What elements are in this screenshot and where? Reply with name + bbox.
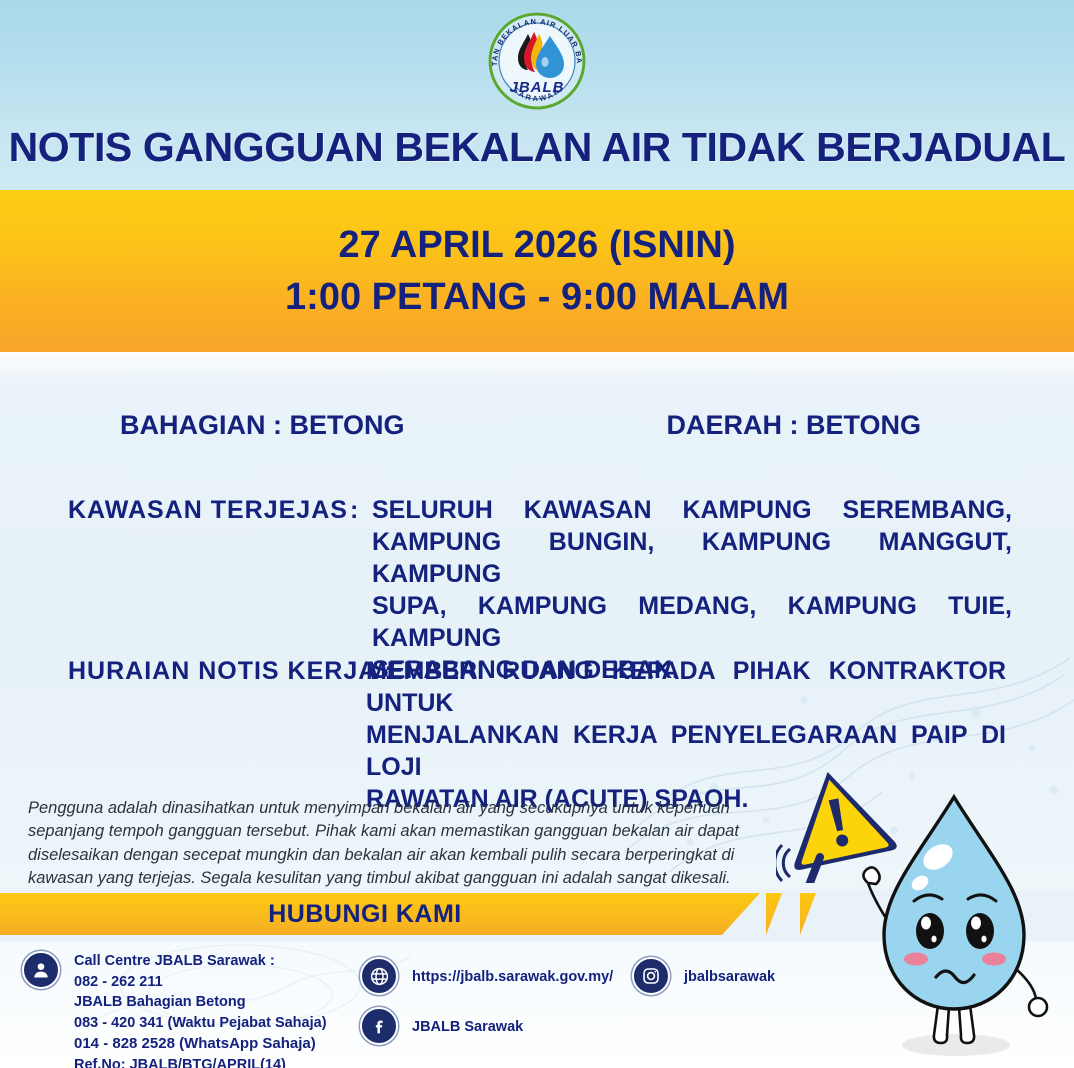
call-centre-line: JBALB Bahagian Betong	[74, 992, 327, 1013]
person-icon	[22, 951, 60, 989]
instagram-icon	[632, 957, 670, 995]
globe-icon	[360, 957, 398, 995]
whatsapp-line: 014 - 828 2528 (WhatsApp Sahaja)	[74, 1033, 327, 1054]
date-time-band: 27 APRIL 2026 (ISNIN) 1:00 PETANG - 9:00…	[0, 190, 1074, 352]
poster-header: JABATAN BEKALAN AIR LUAR BANDAR SARAWAK …	[0, 0, 1074, 190]
website-text: https://jbalb.sarawak.gov.my/	[412, 967, 613, 988]
bahagian-label: BAHAGIAN : BETONG	[120, 410, 405, 441]
water-droplet-mascot	[838, 783, 1068, 1068]
affected-areas-label: KAWASAN TERJEJAS	[68, 494, 350, 526]
reference-number: Ref.No: JBALB/BTG/APRIL(14)	[74, 1055, 327, 1068]
contact-bar: HUBUNGI KAMI	[0, 893, 760, 935]
disclaimer-text: Pengguna adalah dinasihatkan untuk menyi…	[28, 797, 773, 890]
affected-areas-line: SELURUH KAWASAN KAMPUNG SEREMBANG,	[372, 494, 1012, 526]
affected-areas-colon: :	[350, 494, 372, 526]
instagram-text: jbalbsarawak	[684, 967, 775, 988]
facebook-icon	[360, 1007, 398, 1045]
instagram-block[interactable]: jbalbsarawak	[632, 957, 775, 995]
contact-bar-label: HUBUNGI KAMI	[268, 900, 462, 929]
call-centre-text: Call Centre JBALB Sarawak : 082 - 262 21…	[74, 951, 327, 1068]
work-description-line: MENJALANKAN KERJA PENYELEGARAAN PAIP DI …	[366, 719, 1006, 783]
jbalb-sarawak-logo: JABATAN BEKALAN AIR LUAR BANDAR SARAWAK …	[482, 6, 592, 116]
region-row: BAHAGIAN : BETONG DAERAH : BETONG	[0, 410, 1074, 441]
call-centre-line: 082 - 262 211	[74, 972, 327, 993]
work-description-line: MEMBERI RUANG KEPADA PIHAK KONTRAKTOR UN…	[366, 655, 1006, 719]
facebook-block[interactable]: JBALB Sarawak	[360, 1007, 523, 1045]
facebook-text: JBALB Sarawak	[412, 1017, 523, 1038]
notice-time: 1:00 PETANG - 9:00 MALAM	[285, 271, 789, 323]
notice-date: 27 APRIL 2026 (ISNIN)	[338, 219, 735, 271]
call-centre-block: Call Centre JBALB Sarawak : 082 - 262 21…	[22, 951, 327, 1068]
call-centre-line: 083 - 420 341 (Waktu Pejabat Sahaja)	[74, 1013, 327, 1034]
water-disruption-notice-poster: JABATAN BEKALAN AIR LUAR BANDAR SARAWAK …	[0, 0, 1074, 1068]
call-centre-line: Call Centre JBALB Sarawak :	[74, 951, 327, 972]
affected-areas-line: SUPA, KAMPUNG MEDANG, KAMPUNG TUIE, KAMP…	[372, 590, 1012, 654]
poster-title: NOTIS GANGGUAN BEKALAN AIR TIDAK BERJADU…	[0, 124, 1074, 171]
svg-text:JBALB: JBALB	[509, 79, 564, 96]
daerah-label: DAERAH : BETONG	[667, 410, 922, 441]
website-block[interactable]: https://jbalb.sarawak.gov.my/	[360, 957, 613, 995]
affected-areas-line: KAMPUNG BUNGIN, KAMPUNG MANGGUT, KAMPUNG	[372, 526, 1012, 590]
decorative-stripe	[800, 893, 816, 935]
work-description-label: HURAIAN NOTIS KERJA :	[68, 655, 366, 687]
decorative-stripe	[766, 893, 782, 935]
